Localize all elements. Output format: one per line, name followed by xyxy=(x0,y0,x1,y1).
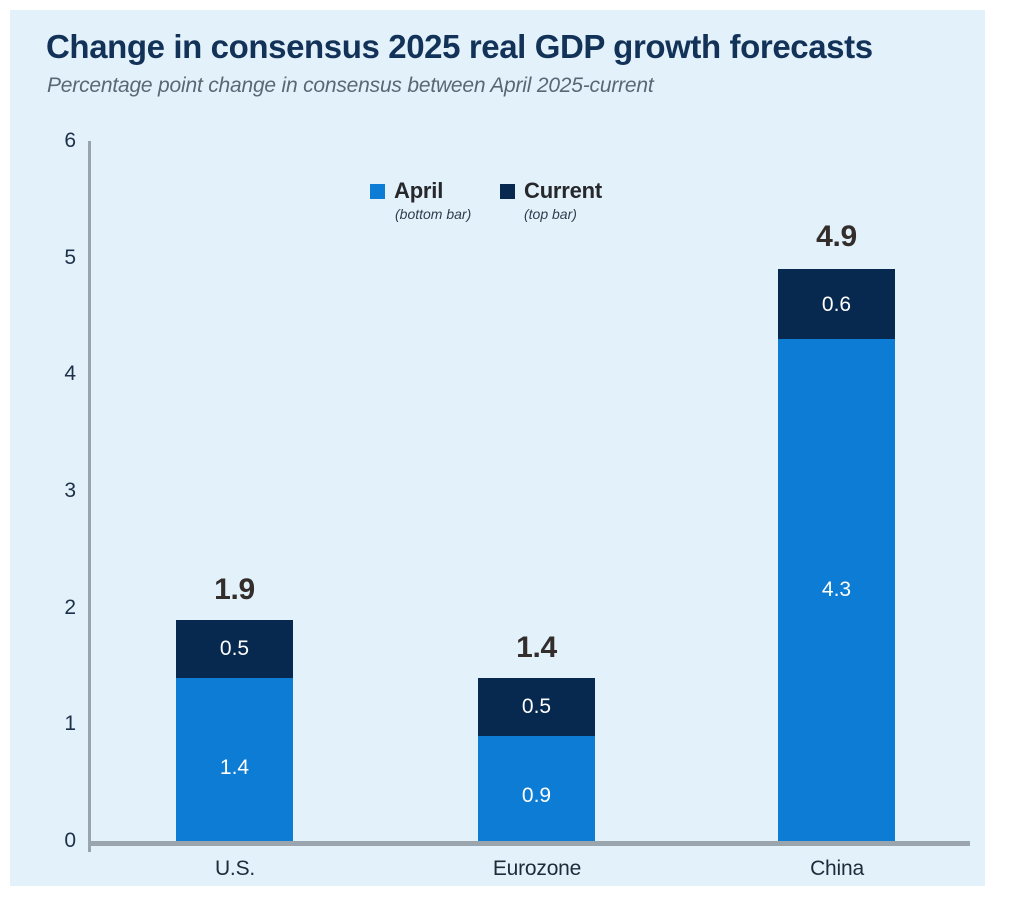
x-axis-line xyxy=(88,841,970,846)
bar-total-label: 4.9 xyxy=(778,220,895,254)
y-tick-label: 2 xyxy=(22,596,76,620)
bar-segment-label-current: 0.5 xyxy=(478,695,595,719)
y-tick-label: 0 xyxy=(22,829,76,853)
bar-total-label: 1.4 xyxy=(478,631,595,665)
x-category-label-us: U.S. xyxy=(135,857,335,881)
bar-segment-label-current: 0.5 xyxy=(176,637,293,661)
y-tick-label: 4 xyxy=(22,362,76,386)
chart-card: Change in consensus 2025 real GDP growth… xyxy=(10,10,985,886)
bar-segment-label-april: 0.9 xyxy=(478,784,595,808)
y-tick-label: 1 xyxy=(22,712,76,736)
bar-segment-label-april: 4.3 xyxy=(778,578,895,602)
bar-group-us[interactable]: 1.9 0.5 1.4 xyxy=(176,620,293,841)
bar-total-label: 1.9 xyxy=(176,573,293,607)
y-tick-label: 3 xyxy=(22,479,76,503)
y-axis-line xyxy=(88,141,91,852)
bar-group-china[interactable]: 4.9 0.6 4.3 xyxy=(778,269,895,841)
x-category-label-china: China xyxy=(737,857,937,881)
y-tick-label: 6 xyxy=(22,129,76,153)
plot-area: 0 1 2 3 4 5 6 1.9 0.5 1.4 1.4 0.5 0.9 xyxy=(10,10,985,886)
bar-segment-label-current: 0.6 xyxy=(778,293,895,317)
bar-segment-label-april: 1.4 xyxy=(176,756,293,780)
chart-canvas: Change in consensus 2025 real GDP growth… xyxy=(0,0,1024,911)
y-tick-label: 5 xyxy=(22,246,76,270)
x-category-label-eurozone: Eurozone xyxy=(437,857,637,881)
bar-group-eurozone[interactable]: 1.4 0.5 0.9 xyxy=(478,678,595,841)
